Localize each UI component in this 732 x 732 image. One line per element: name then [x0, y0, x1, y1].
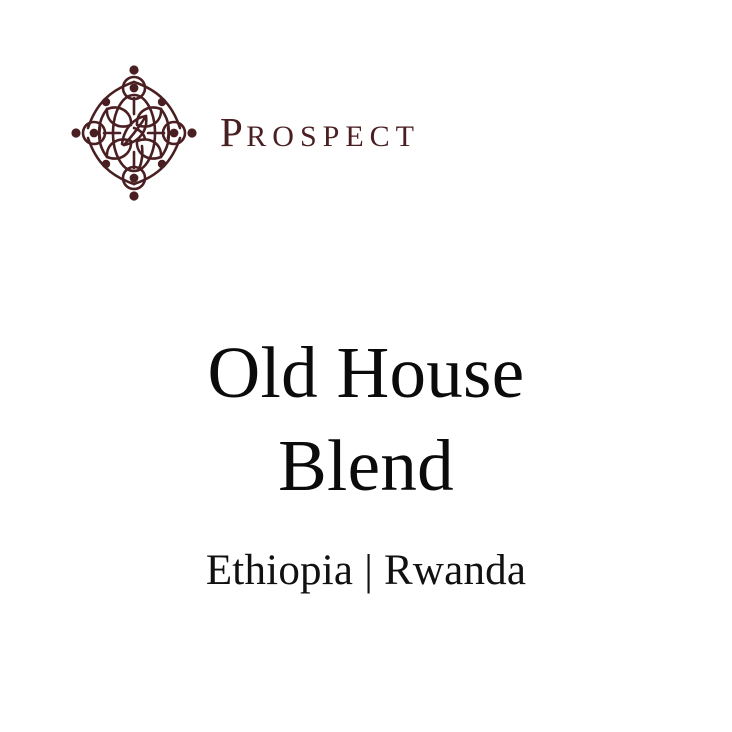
brand-lockup: PROSPECT: [62, 52, 420, 214]
coffee-label-card: PROSPECT Old HouseBlend Ethiopia | Rwand…: [0, 0, 732, 732]
prospect-rosette-logo-icon: [62, 52, 206, 214]
product-title-line-1: Old House: [0, 326, 732, 419]
product-origin-subtitle: Ethiopia | Rwanda: [0, 545, 732, 597]
brand-wordmark: PROSPECT: [220, 112, 420, 155]
brand-wordmark-remainder: ROSPECT: [246, 120, 420, 153]
brand-wordmark-initial: P: [220, 109, 246, 155]
product-title-line-2: Blend: [0, 419, 732, 512]
product-title: Old HouseBlend: [0, 326, 732, 513]
